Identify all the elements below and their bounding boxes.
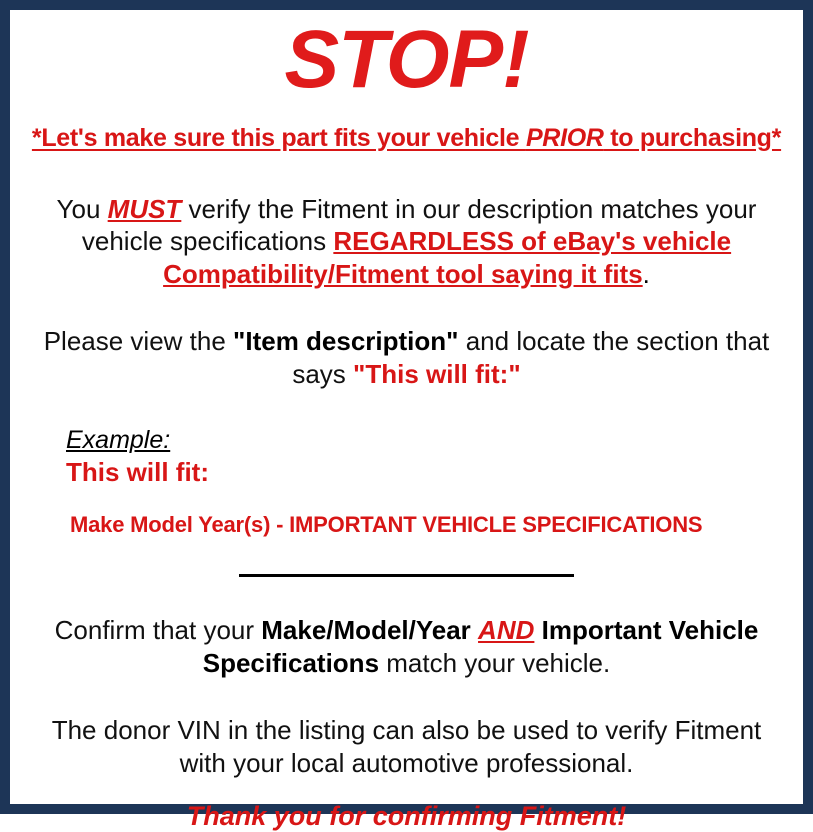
must-part1: You <box>57 194 108 224</box>
donor-vin-paragraph: The donor VIN in the listing can also be… <box>24 680 789 780</box>
confirm-paragraph: Confirm that your Make/Model/Year AND Im… <box>24 584 789 680</box>
example-spec-line: Make Model Year(s) - IMPORTANT VEHICLE S… <box>66 488 789 538</box>
example-fit-header: This will fit: <box>66 455 789 488</box>
confirm-space-1 <box>471 615 478 645</box>
this-will-fit-quote: "This will fit:" <box>353 359 521 389</box>
fitment-tagline: *Let's make sure this part fits your veh… <box>24 102 789 153</box>
confirm-space-2 <box>534 615 541 645</box>
must-emphasis: MUST <box>108 194 182 224</box>
example-block: Example: This will fit: Make Model Year(… <box>24 390 789 538</box>
make-model-year-emphasis: Make/Model/Year <box>261 615 471 645</box>
section-divider <box>239 574 574 577</box>
notice-content: STOP! *Let's make sure this part fits yo… <box>10 10 803 804</box>
fitment-notice-card: STOP! *Let's make sure this part fits yo… <box>0 0 813 814</box>
example-label: Example: <box>66 426 170 455</box>
thank-you-line: Thank you for confirming Fitment! <box>24 779 789 832</box>
must-part3: . <box>643 259 650 289</box>
tagline-lead: *Let's make sure this part fits your veh… <box>32 124 526 152</box>
tagline-prior-emphasis: PRIOR <box>526 124 604 152</box>
view-part1: Please view the <box>44 326 233 356</box>
confirm-part1: Confirm that your <box>55 615 262 645</box>
confirm-part2: match your vehicle. <box>379 648 610 678</box>
stop-headline: STOP! <box>24 10 789 102</box>
divider-wrap <box>24 538 789 584</box>
example-label-row: Example: <box>66 426 789 455</box>
and-emphasis: AND <box>478 615 534 645</box>
item-description-emphasis: "Item description" <box>233 326 458 356</box>
view-description-paragraph: Please view the "Item description" and l… <box>24 291 789 391</box>
must-verify-paragraph: You MUST verify the Fitment in our descr… <box>24 153 789 291</box>
tagline-tail: to purchasing* <box>604 124 781 152</box>
